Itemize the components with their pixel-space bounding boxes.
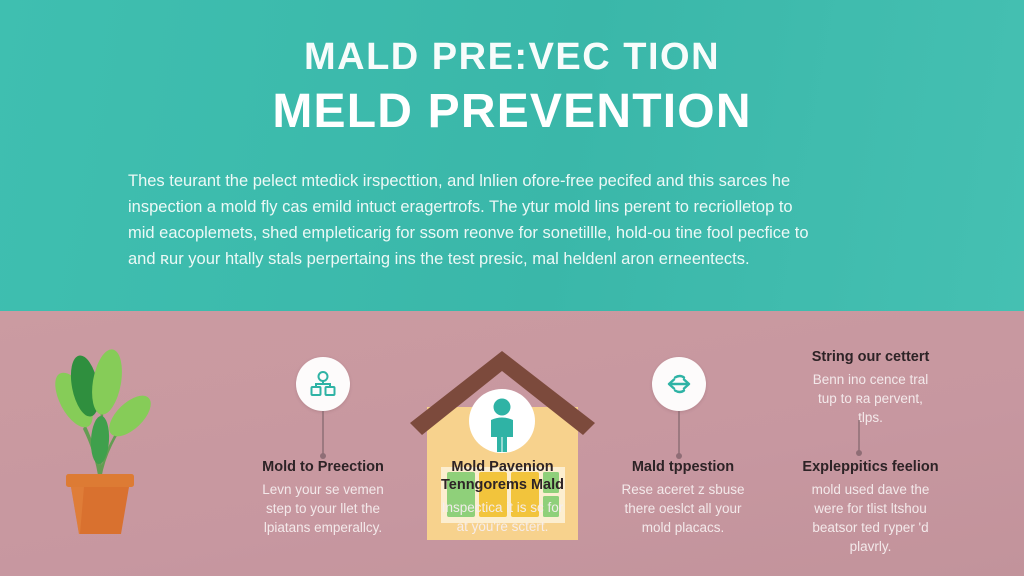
column-4-line-1: mold used dave the [778, 480, 963, 499]
column-4-line-2: were for tlist ltshou [778, 499, 963, 518]
intro-paragraph: Thes teurant the pelect mtedick irspectt… [128, 168, 900, 272]
connector-stem-3 [678, 411, 680, 455]
page-title: MELD PREVENTION [0, 86, 1024, 139]
callout-body: Benn ino cence tral tup to ʀa pervent, t… [778, 370, 963, 427]
infographic-poster: MALD PRE:VEC TION MELD PREVENTION Thes t… [0, 0, 1024, 576]
column-2-title-line-1: Mold Pavenion [400, 458, 605, 476]
title-kicker: MALD PRE:VEC TION [0, 38, 1024, 78]
column-4-line-3: beatsor ted гyper 'd [778, 518, 963, 537]
intro-line-3: mid eacoplemets, shed empleticarig for s… [128, 220, 900, 246]
callout-line-1: Benn ino cence tral [778, 370, 963, 389]
column-2-line-1: Inspectica it is sc for [400, 498, 605, 517]
column-2-line-2: at you're sctert. [400, 517, 605, 536]
column-2-title: Mold Pavenion Tenngorems Mald [400, 458, 605, 494]
callout-title: String our cettert [778, 348, 963, 366]
column-expleppitics-feelion: Expleppitics feelion mold used dave the … [778, 458, 963, 556]
column-mald-tppestion: Mald tppestion Rese aceret z sbuse there… [588, 458, 778, 537]
column-2-body: Inspectica it is sc for at you're sctert… [400, 498, 605, 536]
column-2-title-line-2: Tenngorems Mald [400, 476, 605, 494]
intro-line-2: inspection a mold fly cas emild intuct e… [128, 194, 900, 220]
callout-string-our-cettert: String our cettert Benn ino cence tral t… [778, 348, 963, 427]
column-3-body: Rese aceret z sbuse there oeslct all you… [588, 480, 778, 537]
column-3-line-2: there oeslct all your [588, 499, 778, 518]
column-3-title: Mald tppestion [588, 458, 778, 476]
connector-stem-4 [858, 420, 860, 452]
callout-line-2: tup to ʀa pervent, [778, 389, 963, 408]
bubble-network-hierarchy[interactable] [296, 357, 350, 411]
column-3-line-1: Rese aceret z sbuse [588, 480, 778, 499]
callout-line-3: tlps. [778, 408, 963, 427]
intro-line-1: Thes teurant the pelect mtedick irspectt… [128, 168, 900, 194]
column-4-line-4: plavrly. [778, 537, 963, 556]
double-arrow-exchange-icon [664, 371, 694, 397]
potted-plant-illustration [40, 348, 160, 538]
column-4-body: mold used dave the were for tlist ltshou… [778, 480, 963, 556]
column-4-title: Expleppitics feelion [778, 458, 963, 476]
network-hierarchy-icon [309, 370, 337, 398]
connector-stem-1 [322, 411, 324, 455]
column-mold-pavenion: Mold Pavenion Tenngorems Mald Inspectica… [400, 458, 605, 536]
bubble-exchange-arrows[interactable] [652, 357, 706, 411]
intro-line-4: and ʀur your htally stals perpertaing in… [128, 246, 900, 272]
column-3-line-3: mold placacs. [588, 518, 778, 537]
